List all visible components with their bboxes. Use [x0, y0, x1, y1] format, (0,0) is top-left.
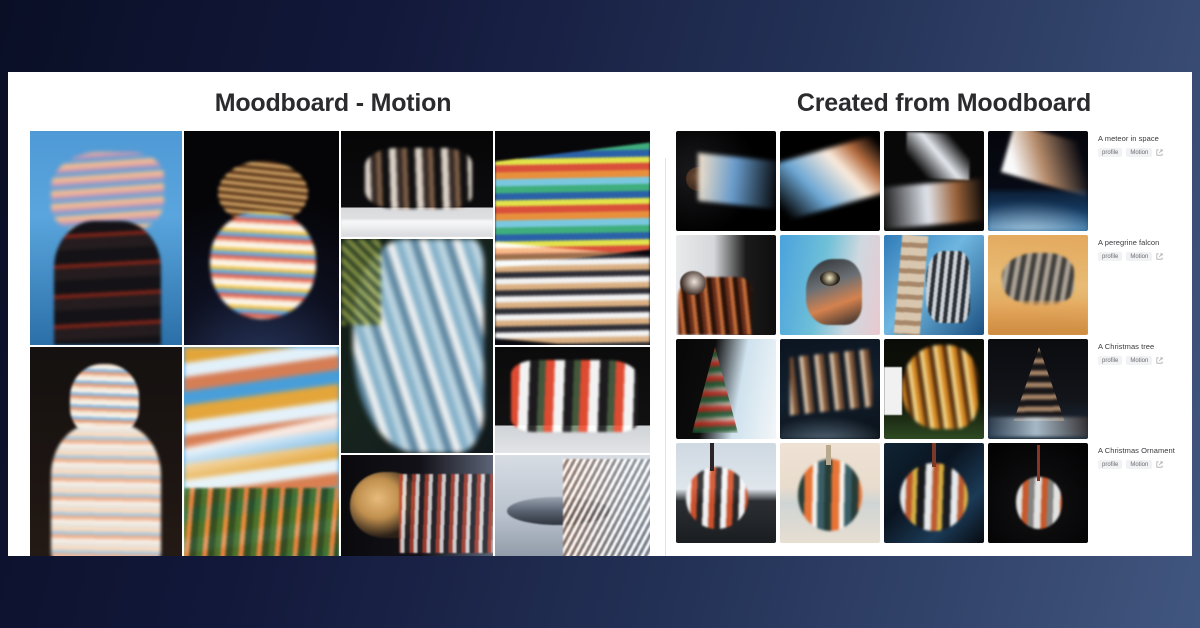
- moodboard-tile-flowing-veil[interactable]: [341, 239, 493, 453]
- external-link-icon[interactable]: [1156, 149, 1163, 156]
- result-tag-group: profileMotion: [1098, 460, 1192, 469]
- generated-image: [884, 443, 984, 543]
- generated-image: [884, 235, 984, 335]
- generated-image: [988, 443, 1088, 543]
- moodboard-tile-striped-figure[interactable]: [30, 347, 182, 556]
- generated-image: [780, 339, 880, 439]
- result-thumb-ornament-1[interactable]: [676, 443, 776, 543]
- profile-tag[interactable]: profile: [1098, 356, 1122, 365]
- style-tag[interactable]: Motion: [1126, 148, 1152, 157]
- result-thumb-meteor-4[interactable]: [988, 131, 1088, 231]
- moodboard-tile-basketball-players[interactable]: [495, 347, 650, 453]
- result-tag-group: profileMotion: [1098, 252, 1192, 261]
- result-row-meta: A Christmas treeprofileMotion: [1092, 339, 1192, 365]
- result-thumb-falcon-1[interactable]: [676, 235, 776, 335]
- moodboard-pane: Moodboard - Motion: [8, 72, 658, 556]
- moodboard-title: Moodboard - Motion: [20, 72, 646, 131]
- moodboard-tile-dancers-motion[interactable]: [341, 131, 493, 237]
- moodboard-image: [495, 347, 650, 453]
- result-thumb-meteor-1[interactable]: [676, 131, 776, 231]
- results-title: Created from Moodboard: [658, 72, 1192, 131]
- result-prompt-caption: A Christmas Ornament: [1098, 446, 1192, 455]
- result-thumb-tree-3[interactable]: [884, 339, 984, 439]
- result-row-meta: A peregrine falconprofileMotion: [1092, 235, 1192, 261]
- moodboard-tile-blurred-flowers[interactable]: [184, 347, 339, 556]
- moodboard-image: [341, 131, 493, 237]
- result-thumb-ornament-4[interactable]: [988, 443, 1088, 543]
- moodboard-tile-cheetah-streak[interactable]: [341, 455, 493, 556]
- moodboard-tile-ufo-blur[interactable]: [495, 455, 650, 556]
- external-link-icon[interactable]: [1156, 461, 1163, 468]
- generated-image: [988, 339, 1088, 439]
- profile-tag[interactable]: profile: [1098, 252, 1122, 261]
- result-thumb-tree-4[interactable]: [988, 339, 1088, 439]
- result-thumb-ornament-2[interactable]: [780, 443, 880, 543]
- result-prompt-caption: A meteor in space: [1098, 134, 1192, 143]
- moodboard-image: [341, 455, 493, 556]
- moodboard-image: [495, 455, 650, 556]
- generated-image: [988, 131, 1088, 231]
- moodboard-image: [184, 347, 339, 556]
- style-tag[interactable]: Motion: [1126, 252, 1152, 261]
- results-grid: A meteor in spaceprofileMotionA peregrin…: [658, 131, 1192, 543]
- generated-image: [780, 443, 880, 543]
- moodboard-image: [341, 239, 493, 453]
- external-link-icon[interactable]: [1156, 253, 1163, 260]
- result-thumb-meteor-3[interactable]: [884, 131, 984, 231]
- result-tag-group: profileMotion: [1098, 356, 1192, 365]
- result-prompt-caption: A Christmas tree: [1098, 342, 1192, 351]
- result-thumb-falcon-4[interactable]: [988, 235, 1088, 335]
- moodboard-mosaic: [30, 131, 656, 555]
- result-row-meta: A Christmas OrnamentprofileMotion: [1092, 443, 1192, 469]
- comparison-card: Moodboard - Motion Created from Moodboar…: [8, 72, 1192, 556]
- profile-tag[interactable]: profile: [1098, 148, 1122, 157]
- generated-image: [676, 443, 776, 543]
- generated-image: [676, 131, 776, 231]
- profile-tag[interactable]: profile: [1098, 460, 1122, 469]
- moodboard-image: [30, 131, 182, 345]
- result-row: A Christmas OrnamentprofileMotion: [676, 443, 1192, 543]
- results-pane: Created from Moodboard A meteor in space…: [658, 72, 1192, 556]
- generated-image: [780, 131, 880, 231]
- result-row-meta: A meteor in spaceprofileMotion: [1092, 131, 1192, 157]
- moodboard-tile-light-hoop-spin[interactable]: [184, 131, 339, 345]
- result-row: A Christmas treeprofileMotion: [676, 339, 1192, 439]
- result-tag-group: profileMotion: [1098, 148, 1192, 157]
- generated-image: [676, 235, 776, 335]
- result-prompt-caption: A peregrine falcon: [1098, 238, 1192, 247]
- generated-image: [884, 339, 984, 439]
- external-link-icon[interactable]: [1156, 357, 1163, 364]
- moodboard-image: [495, 131, 650, 345]
- result-thumb-falcon-2[interactable]: [780, 235, 880, 335]
- result-row: A meteor in spaceprofileMotion: [676, 131, 1192, 231]
- generated-image: [676, 339, 776, 439]
- moodboard-image: [30, 347, 182, 556]
- result-thumb-tree-1[interactable]: [676, 339, 776, 439]
- result-thumb-falcon-3[interactable]: [884, 235, 984, 335]
- generated-image: [988, 235, 1088, 335]
- result-row: A peregrine falconprofileMotion: [676, 235, 1192, 335]
- result-thumb-ornament-3[interactable]: [884, 443, 984, 543]
- style-tag[interactable]: Motion: [1126, 356, 1152, 365]
- result-thumb-meteor-2[interactable]: [780, 131, 880, 231]
- generated-image: [884, 131, 984, 231]
- moodboard-tile-portrait-blur-blue[interactable]: [30, 131, 182, 345]
- moodboard-tile-rainbow-light-trails[interactable]: [495, 131, 650, 345]
- moodboard-image: [184, 131, 339, 345]
- generated-image: [780, 235, 880, 335]
- style-tag[interactable]: Motion: [1126, 460, 1152, 469]
- result-thumb-tree-2[interactable]: [780, 339, 880, 439]
